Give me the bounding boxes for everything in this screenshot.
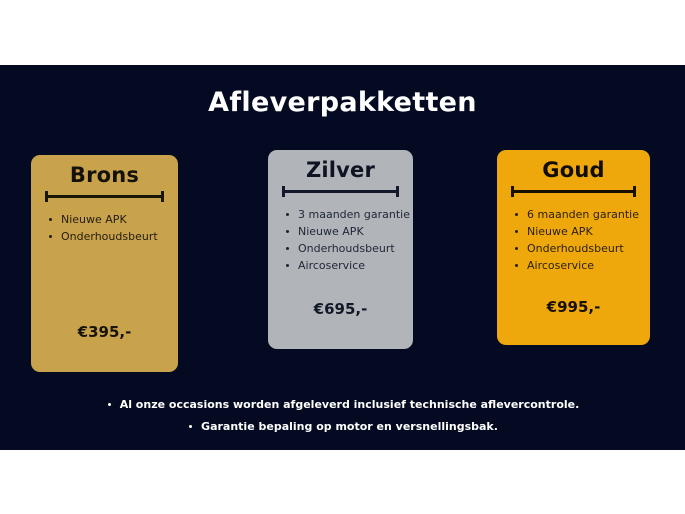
package-title-goud: Goud: [497, 158, 650, 182]
package-card-brons[interactable]: Brons Nieuwe APK Onderhoudsbeurt €395,-: [31, 155, 178, 372]
package-title-brons: Brons: [31, 163, 178, 187]
screenshot-root: Afleverpakketten Brons Nieuwe APK Onderh…: [0, 0, 685, 514]
footnote-delivery: Al onze occasions worden afgeleverd incl…: [106, 395, 580, 415]
package-price-zilver: €695,-: [268, 300, 413, 318]
footnote-list: Al onze occasions worden afgeleverd incl…: [0, 393, 685, 437]
list-item: Aircoservice: [282, 257, 405, 274]
footnote-row: Garantie bepaling op motor en versnellin…: [0, 415, 685, 437]
title-divider-brons: [45, 191, 164, 201]
list-item: Nieuwe APK: [45, 211, 170, 228]
list-item: 6 maanden garantie: [511, 206, 642, 223]
package-feature-list-zilver: 3 maanden garantie Nieuwe APK Onderhouds…: [282, 206, 405, 274]
divider-cap-right-icon: [633, 186, 636, 197]
title-divider-goud: [511, 186, 636, 196]
title-divider-zilver: [282, 186, 399, 196]
package-card-zilver[interactable]: Zilver 3 maanden garantie Nieuwe APK Ond…: [268, 150, 413, 349]
list-item: Nieuwe APK: [511, 223, 642, 240]
divider-bar: [45, 195, 164, 198]
list-item: Onderhoudsbeurt: [282, 240, 405, 257]
package-feature-list-goud: 6 maanden garantie Nieuwe APK Onderhouds…: [511, 206, 642, 274]
divider-cap-right-icon: [396, 186, 399, 197]
list-item: Onderhoudsbeurt: [45, 228, 170, 245]
list-item: Nieuwe APK: [282, 223, 405, 240]
divider-bar: [282, 190, 399, 193]
list-item: 3 maanden garantie: [282, 206, 405, 223]
footnote-warranty: Garantie bepaling op motor en versnellin…: [187, 417, 498, 437]
package-title-zilver: Zilver: [268, 158, 413, 182]
divider-cap-right-icon: [161, 191, 164, 202]
package-price-brons: €395,-: [31, 323, 178, 341]
slide-canvas: Afleverpakketten Brons Nieuwe APK Onderh…: [0, 65, 685, 450]
package-card-goud[interactable]: Goud 6 maanden garantie Nieuwe APK Onder…: [497, 150, 650, 345]
list-item: Aircoservice: [511, 257, 642, 274]
list-item: Onderhoudsbeurt: [511, 240, 642, 257]
divider-bar: [511, 190, 636, 193]
package-price-goud: €995,-: [497, 298, 650, 316]
package-feature-list-brons: Nieuwe APK Onderhoudsbeurt: [45, 211, 170, 245]
footnote-row: Al onze occasions worden afgeleverd incl…: [0, 393, 685, 415]
